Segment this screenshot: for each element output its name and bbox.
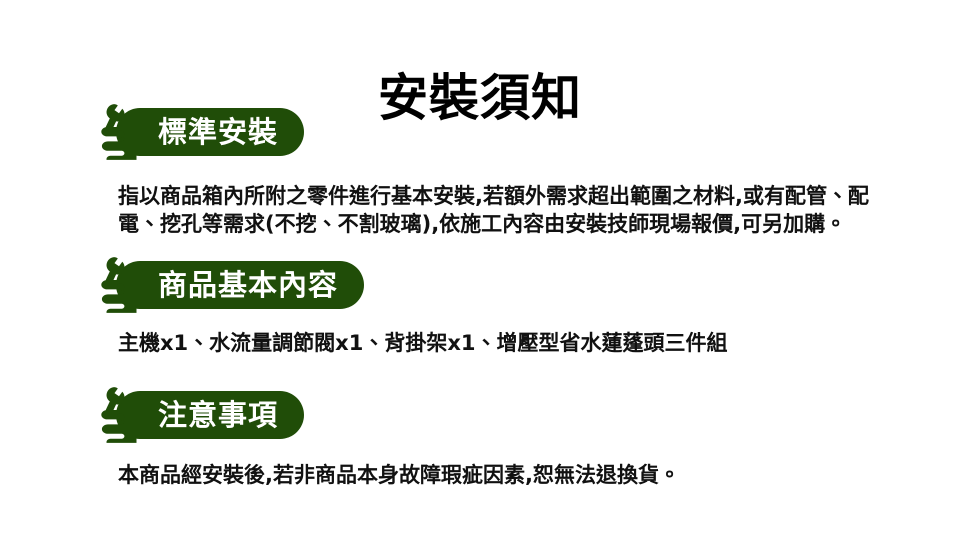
badge-label: 標準安裝: [158, 117, 278, 148]
section-notes: 注意事項 本商品經安裝後,若非商品本身故障瑕疵因素,恕無法退換貨。: [0, 381, 960, 447]
section-standard-installation: 標準安裝 指以商品箱內所附之零件進行基本安裝,若額外需求超出範圍之材料,或有配管…: [0, 98, 960, 164]
section-product-contents: 商品基本內容 主機x1、水流量調節閥x1、背掛架x1、增壓型省水蓮蓬頭三件組: [0, 251, 960, 317]
section-header: 標準安裝: [0, 98, 960, 164]
section-header: 商品基本內容: [0, 251, 960, 317]
body-line: 主機x1、水流量調節閥x1、背掛架x1、增壓型省水蓮蓬頭三件組: [118, 329, 918, 357]
section-header: 注意事項: [0, 381, 960, 447]
badge-label: 注意事項: [158, 400, 278, 431]
badge-notes: 注意事項: [116, 391, 304, 439]
body-line: 指以商品箱內所附之零件進行基本安裝,若額外需求超出範圍之材料,或有配管、配: [118, 182, 918, 210]
section-body: 主機x1、水流量調節閥x1、背掛架x1、增壓型省水蓮蓬頭三件組: [118, 329, 918, 357]
badge-label: 商品基本內容: [158, 270, 338, 301]
body-line: 本商品經安裝後,若非商品本身故障瑕疵因素,恕無法退換貨。: [118, 461, 918, 489]
badge-standard-installation: 標準安裝: [116, 108, 304, 156]
section-body: 指以商品箱內所附之零件進行基本安裝,若額外需求超出範圍之材料,或有配管、配 電、…: [118, 182, 918, 238]
badge-product-contents: 商品基本內容: [116, 261, 364, 309]
installation-notice-page: 安裝須知 標準安裝 指以商品箱: [0, 0, 960, 539]
body-line: 電、挖孔等需求(不挖、不割玻璃),依施工內容由安裝技師現場報價,可另加購。: [118, 210, 918, 238]
section-body: 本商品經安裝後,若非商品本身故障瑕疵因素,恕無法退換貨。: [118, 461, 918, 489]
